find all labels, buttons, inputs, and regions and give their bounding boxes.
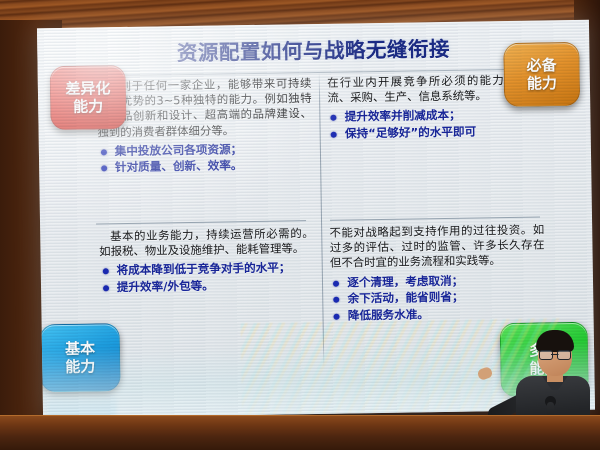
quadrant-bullet-list: 将成本降到低于竞争对手的水平； 提升效率/外包等。 xyxy=(99,260,314,296)
quadrant-top-left: 有别于任何一家企业，能够带来可持续竞争优势的3~5种独特的能力。例如独特的产品创… xyxy=(97,76,313,177)
quadrant-bullet-list: 提升效率并削减成本； 保持“足够好”的水平即可 xyxy=(328,107,543,143)
photo-scene: 资源配置如何与战略无缝衔接 有别于任何一家企业，能够带来可持续竞争优势的3~5种… xyxy=(0,0,600,450)
presenter-pointing-hand xyxy=(477,366,494,381)
presenter-hair xyxy=(536,330,574,352)
wooden-desk xyxy=(0,416,600,450)
badge-line-2: 能力 xyxy=(65,357,95,375)
badge-basic-capability: 基本 能力 xyxy=(40,323,121,392)
quadrant-paragraph: 不能对战略起到支持作用的过往投资。如过多的评估、过时的监管、许多长久存在但不合时… xyxy=(329,222,544,271)
badge-line-2: 能力 xyxy=(527,74,557,92)
badge-line-1: 必备 xyxy=(526,56,556,74)
quadrant-bullet-list: 集中投放公司各项资源； 针对质量、创新、效率。 xyxy=(98,141,313,177)
matrix-horizontal-divider-left xyxy=(96,220,306,224)
bullet-item: 针对质量、创新、效率。 xyxy=(98,157,313,176)
bullet-item: 提升效率/外包等。 xyxy=(100,277,315,296)
matrix-horizontal-divider-right xyxy=(330,216,540,220)
quadrant-paragraph: 有别于任何一家企业，能够带来可持续竞争优势的3~5种独特的能力。例如独特的产品创… xyxy=(97,76,313,140)
badge-line-2: 能力 xyxy=(73,97,103,115)
badge-differentiating-capability: 差异化 能力 xyxy=(50,65,127,130)
badge-line-1: 差异化 xyxy=(65,79,110,98)
quadrant-paragraph: 基本的业务能力，持续运营所必需的。如报税、物业及设施维护、能耗管理等。 xyxy=(99,226,314,260)
bullet-item: 保持“足够好”的水平即可 xyxy=(328,123,543,142)
matrix-vertical-divider xyxy=(318,72,324,368)
glasses-icon xyxy=(539,350,571,358)
badge-line-1: 基本 xyxy=(65,339,95,357)
quadrant-bottom-left: 基本的业务能力，持续运营所必需的。如报税、物业及设施维护、能耗管理等。 将成本降… xyxy=(99,226,315,297)
badge-essential-capability: 必备 能力 xyxy=(503,42,580,107)
